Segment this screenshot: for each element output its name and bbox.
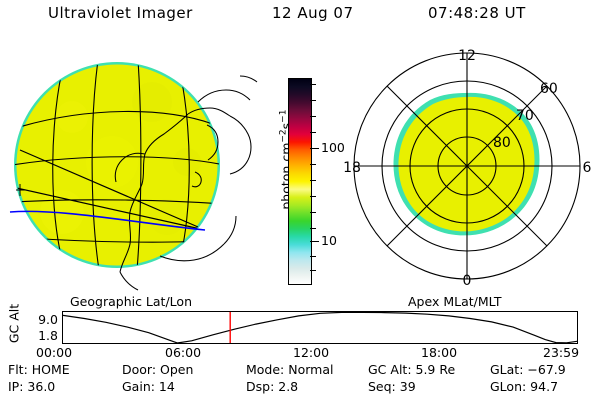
observation-time: 07:48:28 UT <box>428 4 526 22</box>
mlt-label-0: 0 <box>463 273 472 289</box>
colorbar-units-exp1: −2 <box>278 129 288 142</box>
apex-polar-panel[interactable]: 12 6 0 18 60 70 80 <box>344 42 600 294</box>
status-glat: GLat: −67.9 <box>490 362 566 377</box>
status-gc-alt: GC Alt: 5.9 Re <box>368 362 455 377</box>
orbit-xtick-0: 00:00 <box>36 345 72 360</box>
observation-date: 12 Aug 07 <box>272 4 354 22</box>
lat-label-70: 70 <box>516 108 534 124</box>
instrument-title: Ultraviolet Imager <box>48 4 193 22</box>
status-glon: GLon: 94.7 <box>490 379 558 394</box>
status-row-2: IP: 36.0 Gain: 14 Dsp: 2.8 Seq: 39 GLon:… <box>0 379 600 396</box>
status-ip: IP: 36.0 <box>8 379 55 394</box>
mlt-label-6: 6 <box>583 160 592 176</box>
colorbar-tick-100: 100 <box>321 142 345 155</box>
orbit-xtick-2: 12:00 <box>293 345 329 360</box>
colorbar-swatch <box>288 78 312 285</box>
orbit-xtick-4: 23:59 <box>543 345 579 360</box>
status-mode: Mode: Normal <box>246 362 333 377</box>
geographic-globe <box>2 42 264 294</box>
status-block: Flt: HOME Door: Open Mode: Normal GC Alt… <box>0 362 600 400</box>
caption-apex: Apex MLat/MLT <box>408 294 502 309</box>
status-dsp: Dsp: 2.8 <box>246 379 298 394</box>
uv-imager-display: Ultraviolet Imager 12 Aug 07 07:48:28 UT <box>0 0 600 400</box>
header: Ultraviolet Imager 12 Aug 07 07:48:28 UT <box>0 4 600 30</box>
status-door: Door: Open <box>122 362 193 377</box>
status-row-1: Flt: HOME Door: Open Mode: Normal GC Alt… <box>0 362 600 379</box>
geographic-image-panel[interactable] <box>2 42 264 294</box>
colorbar-gradient <box>289 79 311 284</box>
caption-geographic: Geographic Lat/Lon <box>70 294 192 309</box>
lat-label-60: 60 <box>540 81 558 97</box>
status-flight: Flt: HOME <box>8 362 70 377</box>
lat-label-80: 80 <box>493 135 511 151</box>
colorbar-units-exp2: −1 <box>278 110 288 123</box>
orbit-ytick-low: 1.8 <box>28 328 58 343</box>
orbit-altitude-curve <box>63 312 577 343</box>
orbit-xtick-3: 18:00 <box>421 345 457 360</box>
orbit-xtick-1: 06:00 <box>165 345 201 360</box>
colorbar-tick-10: 10 <box>321 235 337 248</box>
colorbar-panel: photon cm−2s−1 100 10 <box>262 60 342 300</box>
orbit-plot-box <box>62 311 578 344</box>
orbit-yaxis-title: GC Alt <box>7 302 22 346</box>
mlt-label-12: 12 <box>458 48 476 64</box>
polar-dial: 12 6 0 18 60 70 80 <box>344 42 600 294</box>
colorbar-ticks: 100 10 <box>310 78 340 285</box>
orbit-ytick-high: 9.0 <box>28 312 58 327</box>
status-gain: Gain: 14 <box>122 379 175 394</box>
mlt-label-18: 18 <box>344 160 361 176</box>
status-seq: Seq: 39 <box>368 379 416 394</box>
